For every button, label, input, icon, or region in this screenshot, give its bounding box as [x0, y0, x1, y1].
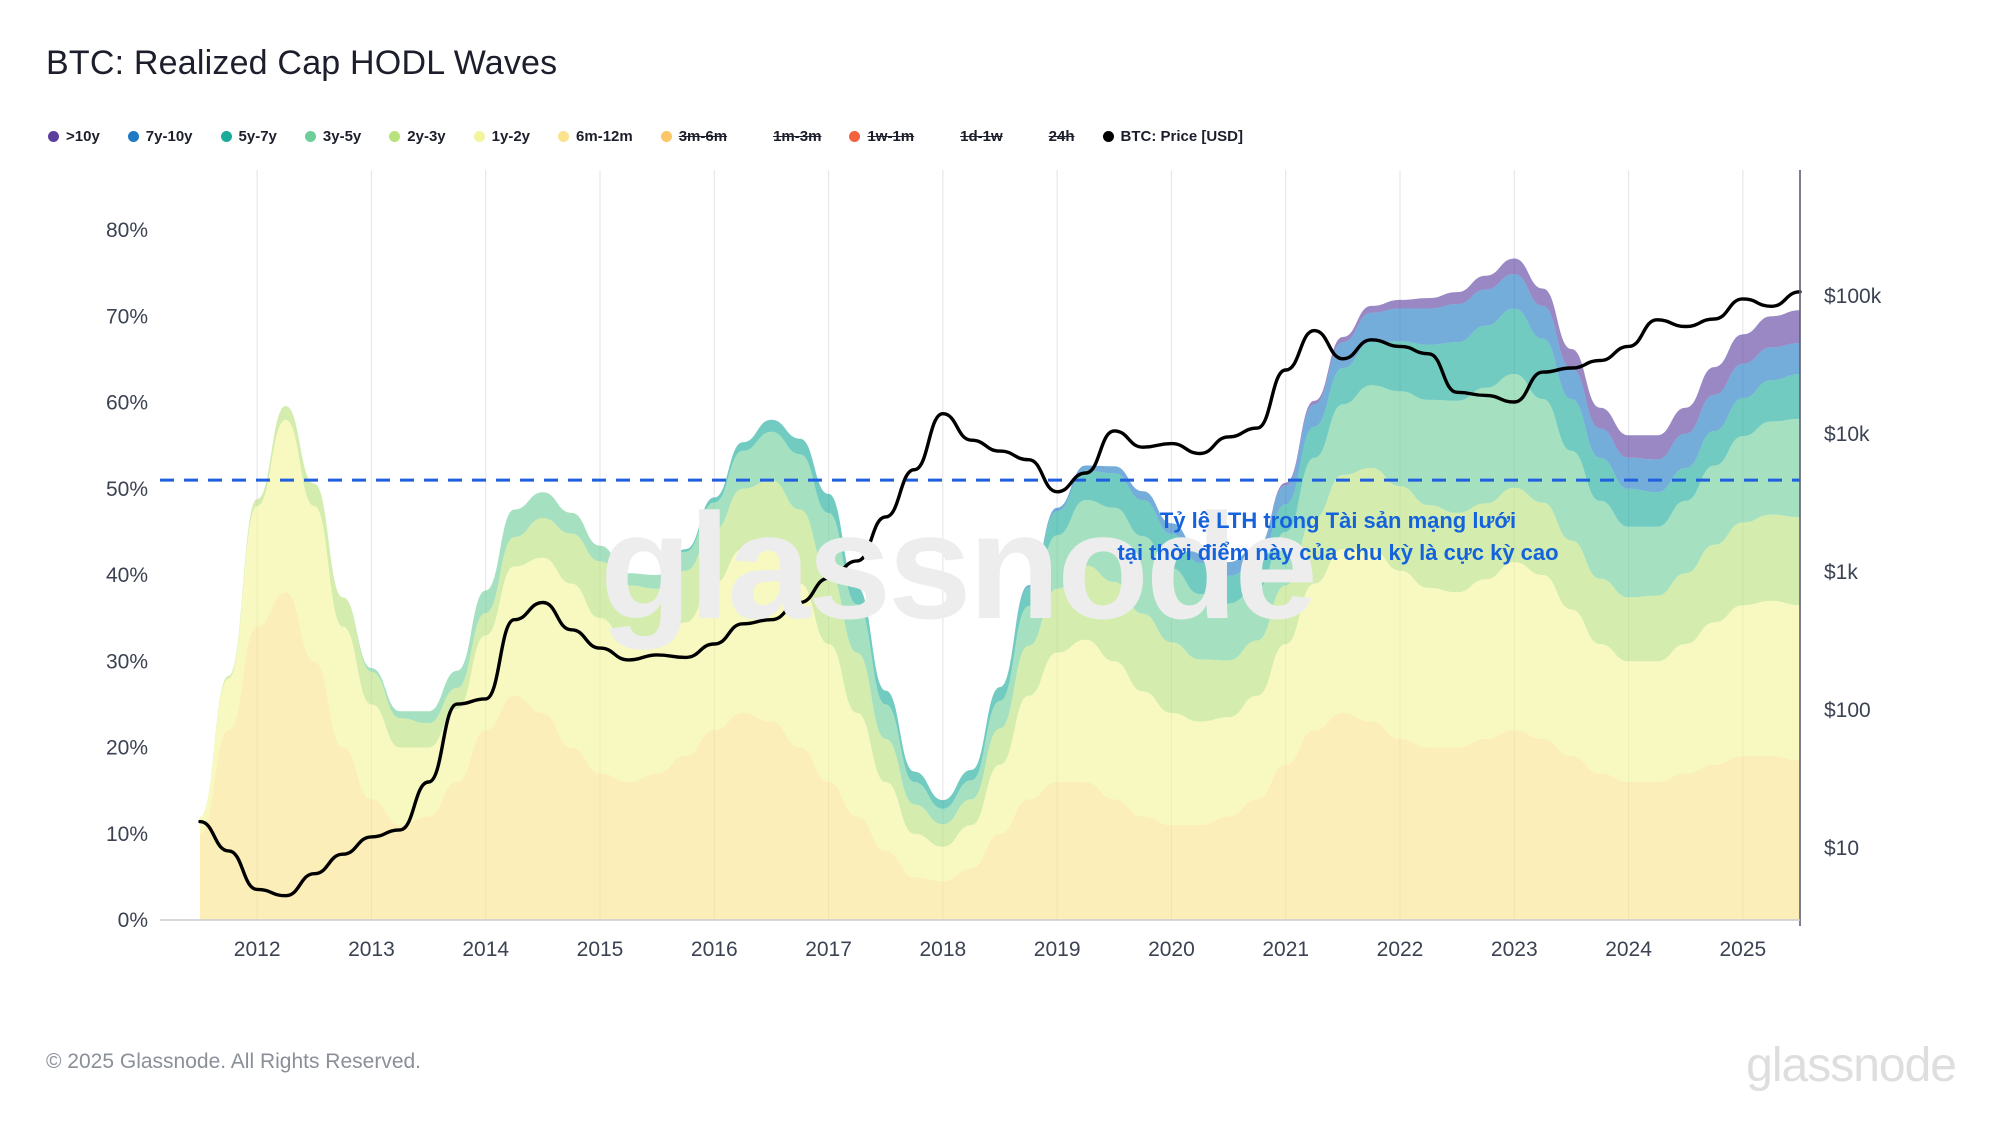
- y-axis-left-tick: 0%: [118, 909, 148, 932]
- annotation-line-2: tại thời điểm này của chu kỳ là cực kỳ c…: [1078, 537, 1598, 569]
- glassnode-logo: glassnode: [1746, 1038, 1956, 1093]
- x-axis-tick: 2022: [1377, 938, 1424, 961]
- stacked-areas: [200, 259, 1800, 921]
- annotation-callout: Tỷ lệ LTH trong Tài sản mạng lưới tại th…: [1078, 505, 1598, 569]
- y-axis-left-tick: 30%: [106, 650, 148, 673]
- x-axis-tick: 2017: [805, 938, 852, 961]
- y-axis-left-tick: 10%: [106, 823, 148, 846]
- x-axis-tick: 2019: [1034, 938, 1081, 961]
- x-axis-tick: 2023: [1491, 938, 1538, 961]
- y-axis-left-tick: 70%: [106, 305, 148, 328]
- y-axis-right-tick: $100: [1824, 699, 1871, 722]
- x-axis-tick: 2013: [348, 938, 395, 961]
- y-axis-left-tick: 50%: [106, 478, 148, 501]
- x-axis-tick: 2015: [577, 938, 624, 961]
- y-axis-right: $10$100$1k$10k$100k: [1824, 285, 1882, 860]
- y-axis-right-tick: $10k: [1824, 423, 1870, 446]
- x-axis-tick: 2024: [1605, 938, 1652, 961]
- x-axis-tick: 2014: [462, 938, 509, 961]
- x-axis-tick: 2012: [234, 938, 281, 961]
- annotation-line-1: Tỷ lệ LTH trong Tài sản mạng lưới: [1078, 505, 1598, 537]
- y-axis-right-tick: $100k: [1824, 285, 1882, 308]
- y-axis-left-tick: 40%: [106, 564, 148, 587]
- x-axis-tick: 2016: [691, 938, 738, 961]
- y-axis-right-tick: $10: [1824, 837, 1859, 860]
- x-axis-tick: 2018: [919, 938, 966, 961]
- x-axis-tick: 2025: [1719, 938, 1766, 961]
- x-axis-tick: 2020: [1148, 938, 1195, 961]
- chart-svg: 0%10%20%30%40%50%60%70%80%$10$100$1k$10k…: [0, 0, 2000, 1125]
- x-axis: 2012201320142015201620172018201920202021…: [234, 938, 1766, 961]
- y-axis-left: 0%10%20%30%40%50%60%70%80%: [106, 219, 148, 932]
- y-axis-left-tick: 60%: [106, 392, 148, 415]
- y-axis-left-tick: 20%: [106, 737, 148, 760]
- y-axis-left-tick: 80%: [106, 219, 148, 242]
- x-axis-tick: 2021: [1262, 938, 1309, 961]
- chart-plot-area: 0%10%20%30%40%50%60%70%80%$10$100$1k$10k…: [0, 0, 2000, 1125]
- copyright-text: © 2025 Glassnode. All Rights Reserved.: [46, 1050, 421, 1074]
- y-axis-right-tick: $1k: [1824, 561, 1858, 584]
